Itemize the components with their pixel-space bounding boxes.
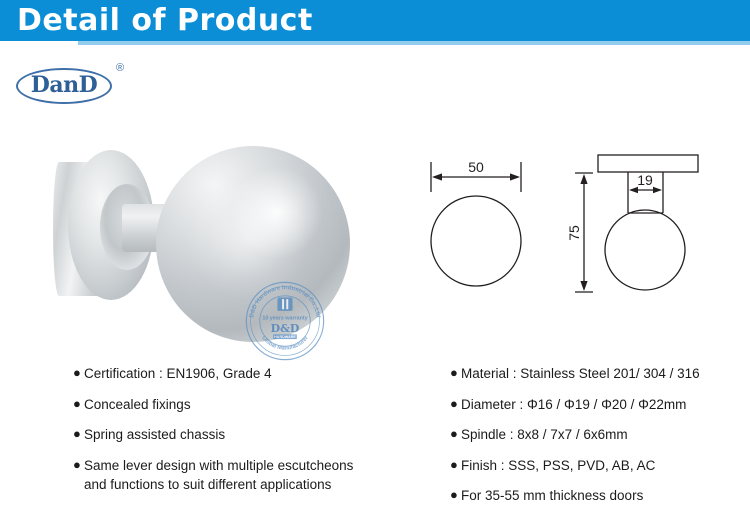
bullet-icon: ● xyxy=(73,395,84,414)
specs-left-column: ● Certification : EN1906, Grade 4 ● Conc… xyxy=(73,364,423,506)
seal-warranty-text: 10 years warranty xyxy=(262,315,307,321)
page-header-banner: Detail of Product xyxy=(0,0,750,41)
bullet-icon: ● xyxy=(450,364,461,383)
list-item: ● Spring assisted chassis xyxy=(73,425,423,445)
watermark-seal: D&D Hardware Industrial Co.,Ltd Global M… xyxy=(243,279,327,363)
list-item: ● Spindle : 8x8 / 7x7 / 6x6mm xyxy=(450,425,750,445)
header-accent-underline xyxy=(78,41,750,45)
specs-right-column: ● Material : Stainless Steel 201/ 304 / … xyxy=(450,364,750,517)
spec-text: Concealed fixings xyxy=(84,395,423,415)
seal-brand-text: D&D xyxy=(271,322,300,335)
spec-text: For 35-55 mm thickness doors xyxy=(461,486,750,506)
list-item: ● Concealed fixings xyxy=(73,395,423,415)
bullet-icon: ● xyxy=(450,395,461,414)
spec-text: Same lever design with multiple escutche… xyxy=(84,458,353,473)
side-view-drawing: 75 19 xyxy=(563,140,748,325)
list-item: ● Certification : EN1906, Grade 4 xyxy=(73,364,423,384)
spec-text: Material : Stainless Steel 201/ 304 / 31… xyxy=(461,364,750,384)
spec-text-continuation: and functions to suit different applicat… xyxy=(84,475,423,495)
logo-wordmark: DanD xyxy=(16,68,112,104)
spec-text: Spindle : 8x8 / 7x7 / 6x6mm xyxy=(461,425,750,445)
spec-text: Finish : SSS, PSS, PVD, AB, AC xyxy=(461,456,750,476)
list-item: ● For 35-55 mm thickness doors xyxy=(450,486,750,506)
list-item: ● Same lever design with multiple escutc… xyxy=(73,456,423,495)
side-view-width-label: 19 xyxy=(637,172,653,188)
spec-text: Diameter : Φ16 / Φ19 / Φ20 / Φ22mm xyxy=(461,395,750,415)
front-view-dimension-label: 50 xyxy=(468,159,484,175)
spec-text: Spring assisted chassis xyxy=(84,425,423,445)
bullet-icon: ● xyxy=(450,456,461,475)
list-item: ● Diameter : Φ16 / Φ19 / Φ20 / Φ22mm xyxy=(450,395,750,415)
front-view-drawing: 50 xyxy=(410,148,575,318)
page-title: Detail of Product xyxy=(17,3,313,38)
brand-logo: DanD ® xyxy=(16,60,146,106)
list-item: ● Material : Stainless Steel 201/ 304 / … xyxy=(450,364,750,384)
side-view-height-label: 75 xyxy=(566,225,582,241)
bullet-icon: ● xyxy=(73,364,84,383)
seal-subbrand-text: HARDWARE xyxy=(274,335,296,339)
bullet-icon: ● xyxy=(73,425,84,444)
list-item: ● Finish : SSS, PSS, PVD, AB, AC xyxy=(450,456,750,476)
spec-text: Certification : EN1906, Grade 4 xyxy=(84,364,423,384)
bullet-icon: ● xyxy=(450,425,461,444)
bullet-icon: ● xyxy=(73,456,84,475)
registered-trademark-icon: ® xyxy=(116,62,124,74)
